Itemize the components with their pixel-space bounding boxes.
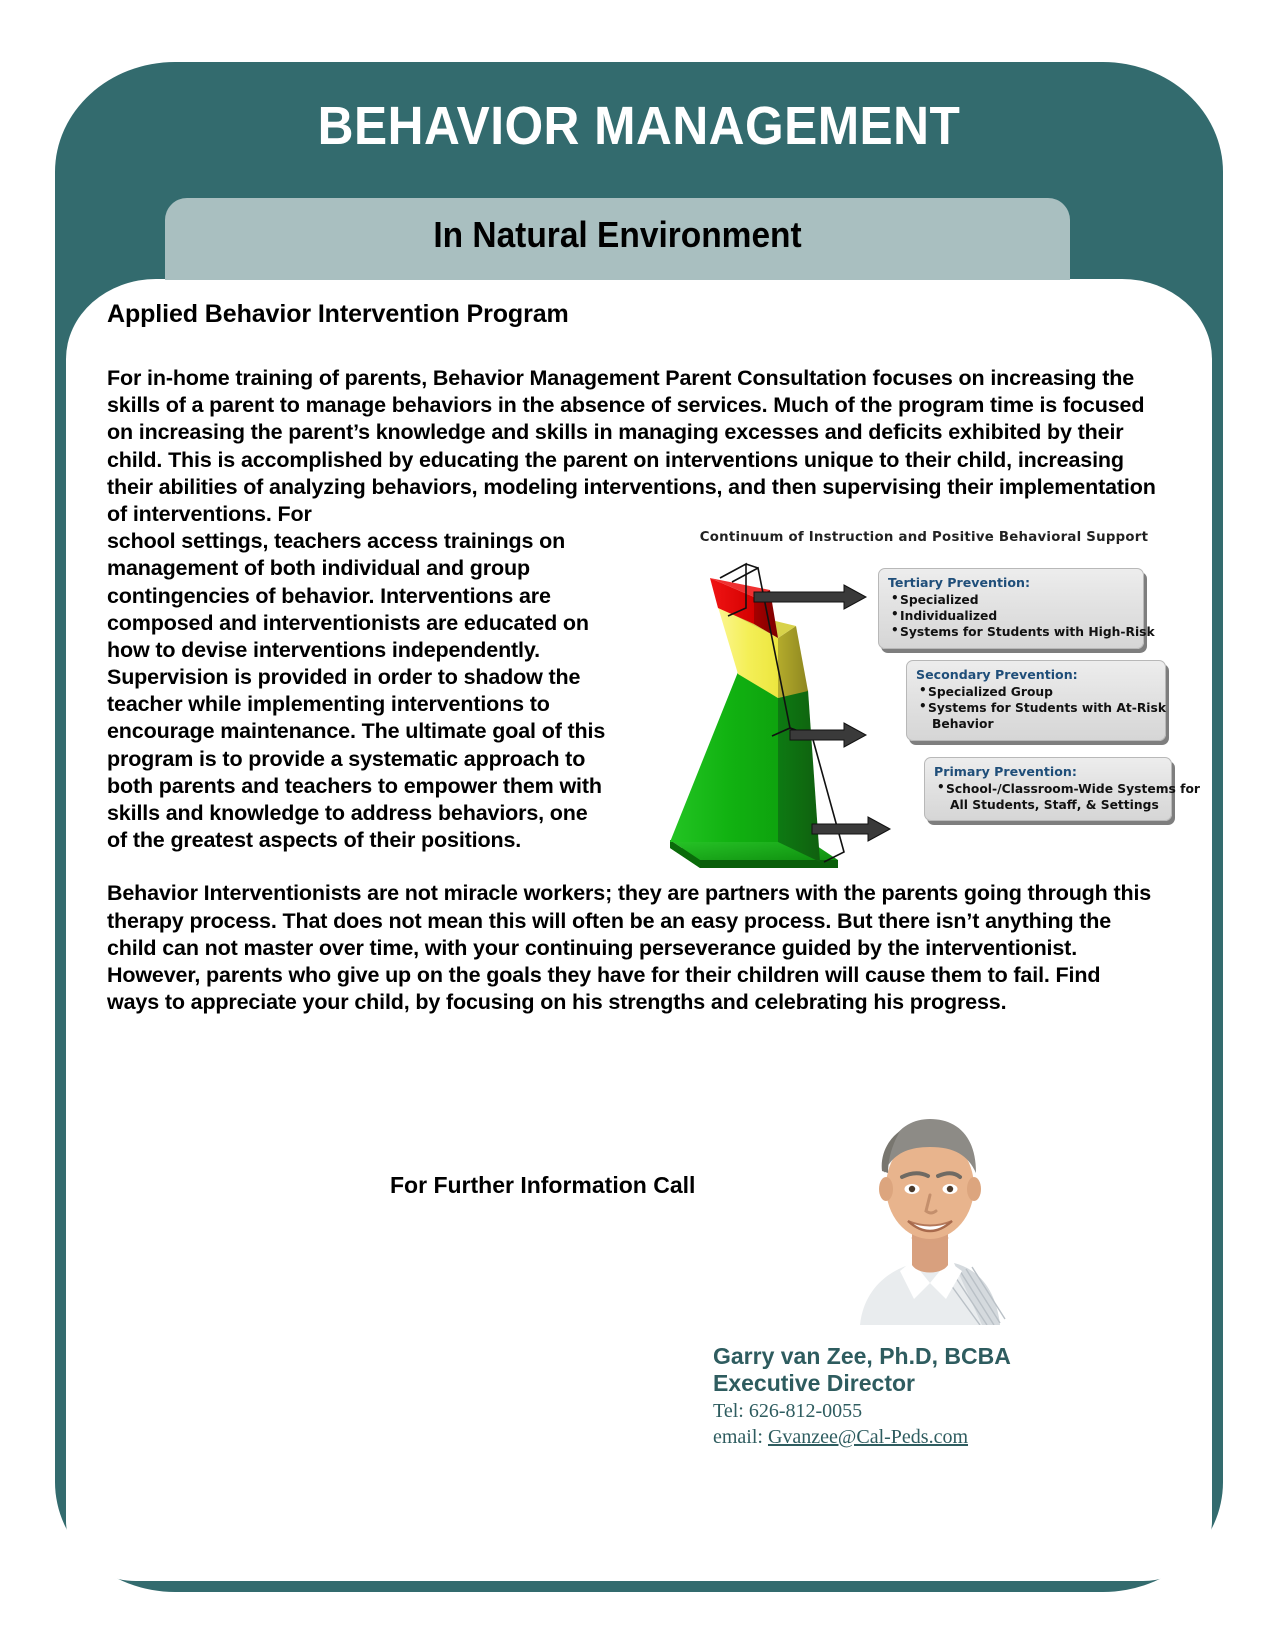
- paragraph-closing: Behavior Interventionists are not miracl…: [107, 880, 1157, 1016]
- document-body: Applied Behavior Intervention Program Fo…: [107, 300, 1165, 1016]
- callout-item: •Systems for Students with High-Risk: [888, 624, 1134, 640]
- callout-tertiary-prevention: Tertiary Prevention: •Specialized •Indiv…: [878, 568, 1144, 648]
- callout-item-continuation: Behavior: [916, 716, 1156, 732]
- contact-telephone: Tel: 626-812-0055: [713, 1399, 1011, 1425]
- callout-item-text: School-/Classroom-Wide Systems for: [946, 782, 1200, 796]
- callout-item-text: Systems for Students with At-Risk: [928, 701, 1166, 715]
- pyramid-figure: Continuum of Instruction and Positive Be…: [662, 530, 1162, 880]
- bullet-icon: •: [891, 623, 899, 639]
- signature-block: Garry van Zee, Ph.D, BCBA Executive Dire…: [713, 1343, 1011, 1450]
- subtitle-bar: In Natural Environment: [165, 198, 1070, 280]
- telephone-label: Tel:: [713, 1400, 744, 1422]
- callout-item-text: Specialized: [900, 593, 979, 607]
- subtitle-text: In Natural Environment: [197, 214, 1039, 256]
- callout-items: •Specialized •Individualized •Systems fo…: [888, 592, 1134, 640]
- callout-item-text: Specialized Group: [928, 685, 1053, 699]
- bullet-icon: •: [919, 699, 927, 715]
- callout-item: •Specialized Group: [916, 684, 1156, 700]
- avatar: [842, 1103, 1017, 1325]
- callout-item-text: Behavior: [932, 717, 994, 731]
- bullet-icon: •: [891, 591, 899, 607]
- callout-primary-prevention: Primary Prevention: •School-/Classroom-W…: [924, 757, 1172, 821]
- callout-items: •Specialized Group •Systems for Students…: [916, 684, 1156, 732]
- callout-items: •School-/Classroom-Wide Systems for All …: [934, 781, 1162, 813]
- bullet-icon: •: [891, 607, 899, 623]
- callout-title: Tertiary Prevention:: [888, 575, 1134, 591]
- callout-item: •School-/Classroom-Wide Systems for: [934, 781, 1162, 797]
- bullet-icon: •: [937, 780, 945, 796]
- callout-title: Primary Prevention:: [934, 764, 1162, 780]
- contact-email: email: Gvanzee@Cal-Peds.com: [713, 1425, 1011, 1451]
- contact-role: Executive Director: [713, 1370, 1011, 1397]
- email-address-link[interactable]: Gvanzee@Cal-Peds.com: [768, 1426, 968, 1448]
- callout-item: •Individualized: [888, 608, 1134, 624]
- callout-item-text: Individualized: [900, 609, 997, 623]
- further-information-call: For Further Information Call: [390, 1172, 695, 1199]
- callout-item: •Systems for Students with At-Risk: [916, 700, 1156, 716]
- callout-item: •Specialized: [888, 592, 1134, 608]
- contact-name: Garry van Zee, Ph.D, BCBA: [713, 1343, 1011, 1370]
- callout-secondary-prevention: Secondary Prevention: •Specialized Group…: [906, 660, 1166, 740]
- callout-title: Secondary Prevention:: [916, 667, 1156, 683]
- page-title: BEHAVIOR MANAGEMENT: [112, 95, 1166, 157]
- flyer-page: BEHAVIOR MANAGEMENT In Natural Environme…: [0, 0, 1275, 1650]
- callout-item-text: All Students, Staff, & Settings: [950, 798, 1159, 812]
- callout-item-continuation: All Students, Staff, & Settings: [934, 797, 1162, 813]
- paragraph-with-figure: school settings, teachers access trainin…: [107, 528, 1165, 854]
- callout-item-text: Systems for Students with High-Risk: [900, 625, 1155, 639]
- section-heading: Applied Behavior Intervention Program: [107, 300, 1165, 329]
- email-label: email:: [713, 1426, 763, 1448]
- paragraph-intro: For in-home training of parents, Behavio…: [107, 365, 1157, 528]
- bullet-icon: •: [919, 683, 927, 699]
- paragraph-school-settings: school settings, teachers access trainin…: [107, 528, 613, 854]
- telephone-number: 626-812-0055: [749, 1400, 862, 1422]
- figure-caption: Continuum of Instruction and Positive Be…: [684, 530, 1164, 545]
